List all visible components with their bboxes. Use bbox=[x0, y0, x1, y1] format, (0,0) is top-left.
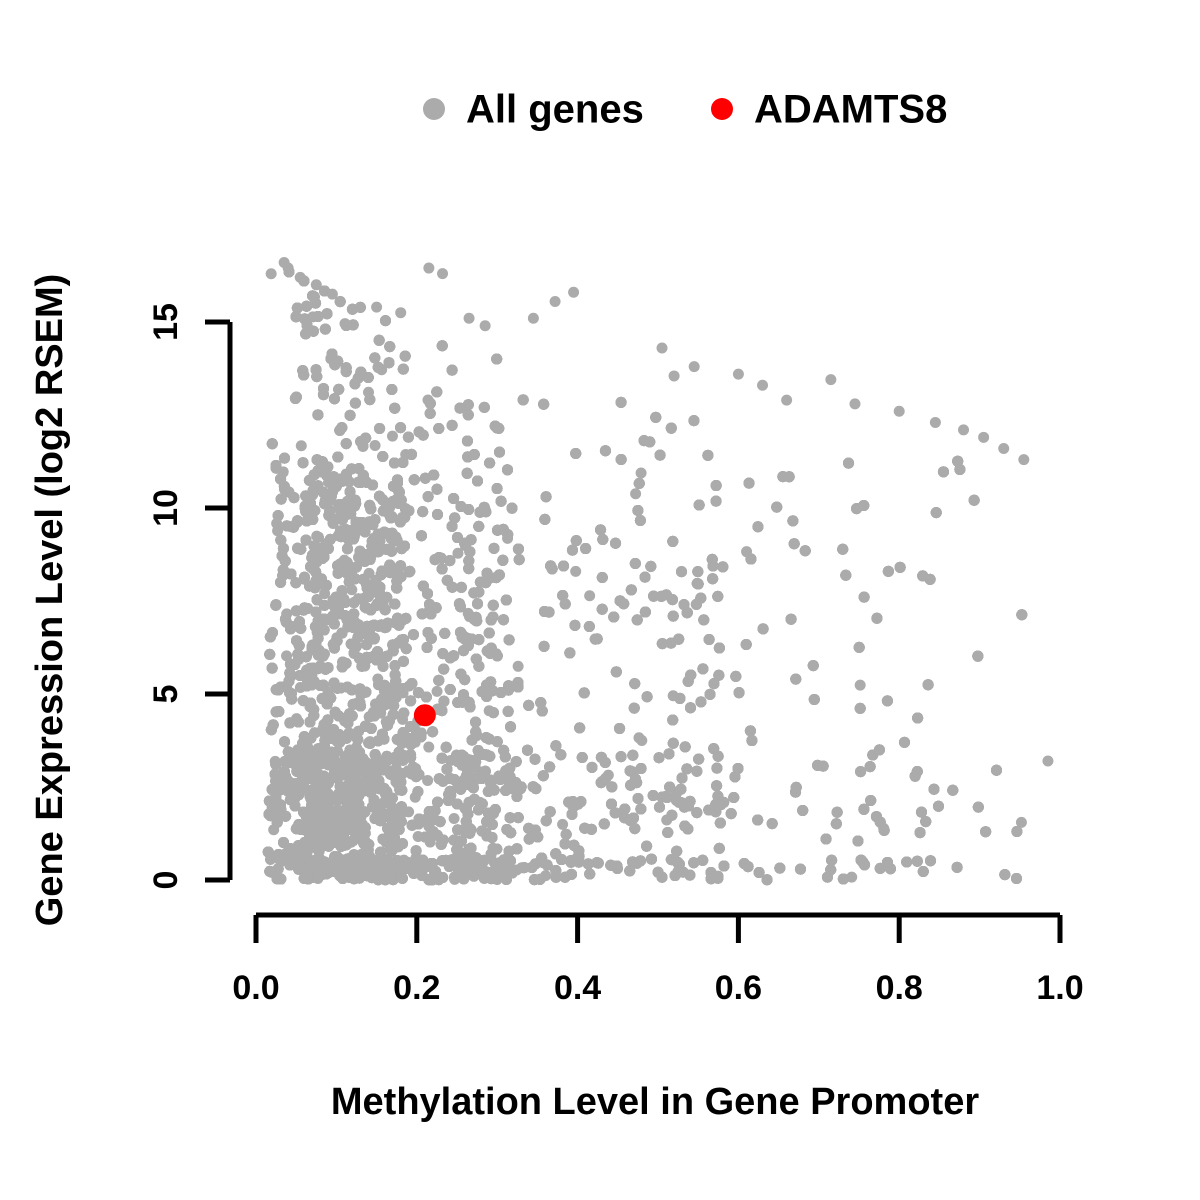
highlight-point-layer bbox=[414, 704, 436, 726]
y-axis-title: Gene Expression Level (log2 RSEM) bbox=[29, 274, 71, 927]
x-tick-label: 0.8 bbox=[876, 969, 923, 1007]
y-tick-label: 0 bbox=[147, 871, 185, 890]
x-tick-label: 0.0 bbox=[232, 969, 279, 1007]
highlight-point-adamts8 bbox=[414, 704, 436, 726]
legend-item-label: All genes bbox=[466, 88, 644, 132]
x-tick-label: 1.0 bbox=[1036, 969, 1083, 1007]
y-tick-label: 5 bbox=[147, 685, 185, 704]
x-axis-title: Methylation Level in Gene Promoter bbox=[331, 1081, 979, 1123]
legend-item-label: ADAMTS8 bbox=[754, 88, 947, 132]
legend-red-dot-icon bbox=[711, 98, 733, 120]
scatter-plot-figure: 0510150.00.20.40.60.81.0Gene Expression … bbox=[0, 0, 1200, 1200]
legend-gray-dot-icon bbox=[423, 98, 445, 120]
x-tick-label: 0.4 bbox=[554, 969, 601, 1007]
y-tick-label: 10 bbox=[147, 489, 185, 527]
plot-canvas: 0510150.00.20.40.60.81.0Gene Expression … bbox=[0, 0, 1200, 1200]
x-tick-label: 0.6 bbox=[715, 969, 762, 1007]
figure-background bbox=[0, 0, 1200, 1200]
y-tick-label: 15 bbox=[147, 303, 185, 341]
x-tick-label: 0.2 bbox=[393, 969, 440, 1007]
